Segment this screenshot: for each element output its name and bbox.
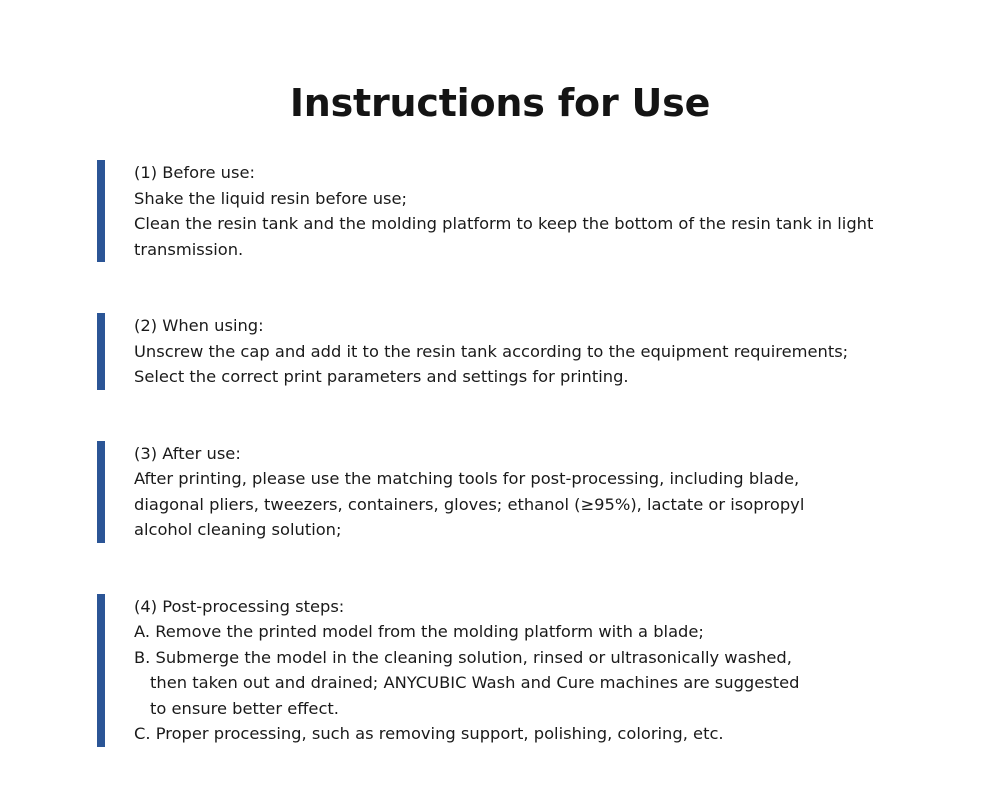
section-4-line-2: A. Remove the printed model from the mol… (134, 619, 1000, 645)
section-1-line-1: (1) Before use: (134, 160, 1000, 186)
section-1-lines: (1) Before use: Shake the liquid resin b… (134, 160, 1000, 262)
section-3-line-1: (3) After use: (134, 441, 1000, 467)
section-4-line-5: to ensure better effect. (134, 696, 1000, 722)
section-2-line-3: Select the correct print parameters and … (134, 364, 1000, 390)
page-title: Instructions for Use (0, 0, 1000, 122)
section-3-line-2: After printing, please use the matching … (134, 466, 1000, 492)
section-4-line-4: then taken out and drained; ANYCUBIC Was… (134, 670, 1000, 696)
section-2-line-2: Unscrew the cap and add it to the resin … (134, 339, 1000, 365)
section-3-line-3: diagonal pliers, tweezers, containers, g… (134, 492, 1000, 518)
accent-bar-3 (97, 441, 105, 543)
accent-bar-1 (97, 160, 105, 262)
instruction-section-3: (3) After use: After printing, please us… (0, 441, 1000, 543)
instruction-sections: (1) Before use: Shake the liquid resin b… (0, 160, 1000, 747)
section-4-line-1: (4) Post-processing steps: (134, 594, 1000, 620)
section-1-line-4: transmission. (134, 237, 1000, 263)
section-2-lines: (2) When using: Unscrew the cap and add … (134, 313, 1000, 390)
instruction-section-1: (1) Before use: Shake the liquid resin b… (0, 160, 1000, 262)
instruction-section-2: (2) When using: Unscrew the cap and add … (0, 313, 1000, 390)
instruction-section-4: (4) Post-processing steps: A. Remove the… (0, 594, 1000, 747)
section-4-lines: (4) Post-processing steps: A. Remove the… (134, 594, 1000, 747)
accent-bar-4 (97, 594, 105, 747)
accent-bar-2 (97, 313, 105, 390)
document-page: Instructions for Use (1) Before use: Sha… (0, 0, 1000, 800)
section-3-line-4: alcohol cleaning solution; (134, 517, 1000, 543)
section-4-line-6: C. Proper processing, such as removing s… (134, 721, 1000, 747)
section-1-line-2: Shake the liquid resin before use; (134, 186, 1000, 212)
section-2-line-1: (2) When using: (134, 313, 1000, 339)
section-4-line-3: B. Submerge the model in the cleaning so… (134, 645, 1000, 671)
section-1-line-3: Clean the resin tank and the molding pla… (134, 211, 1000, 237)
section-3-lines: (3) After use: After printing, please us… (134, 441, 1000, 543)
